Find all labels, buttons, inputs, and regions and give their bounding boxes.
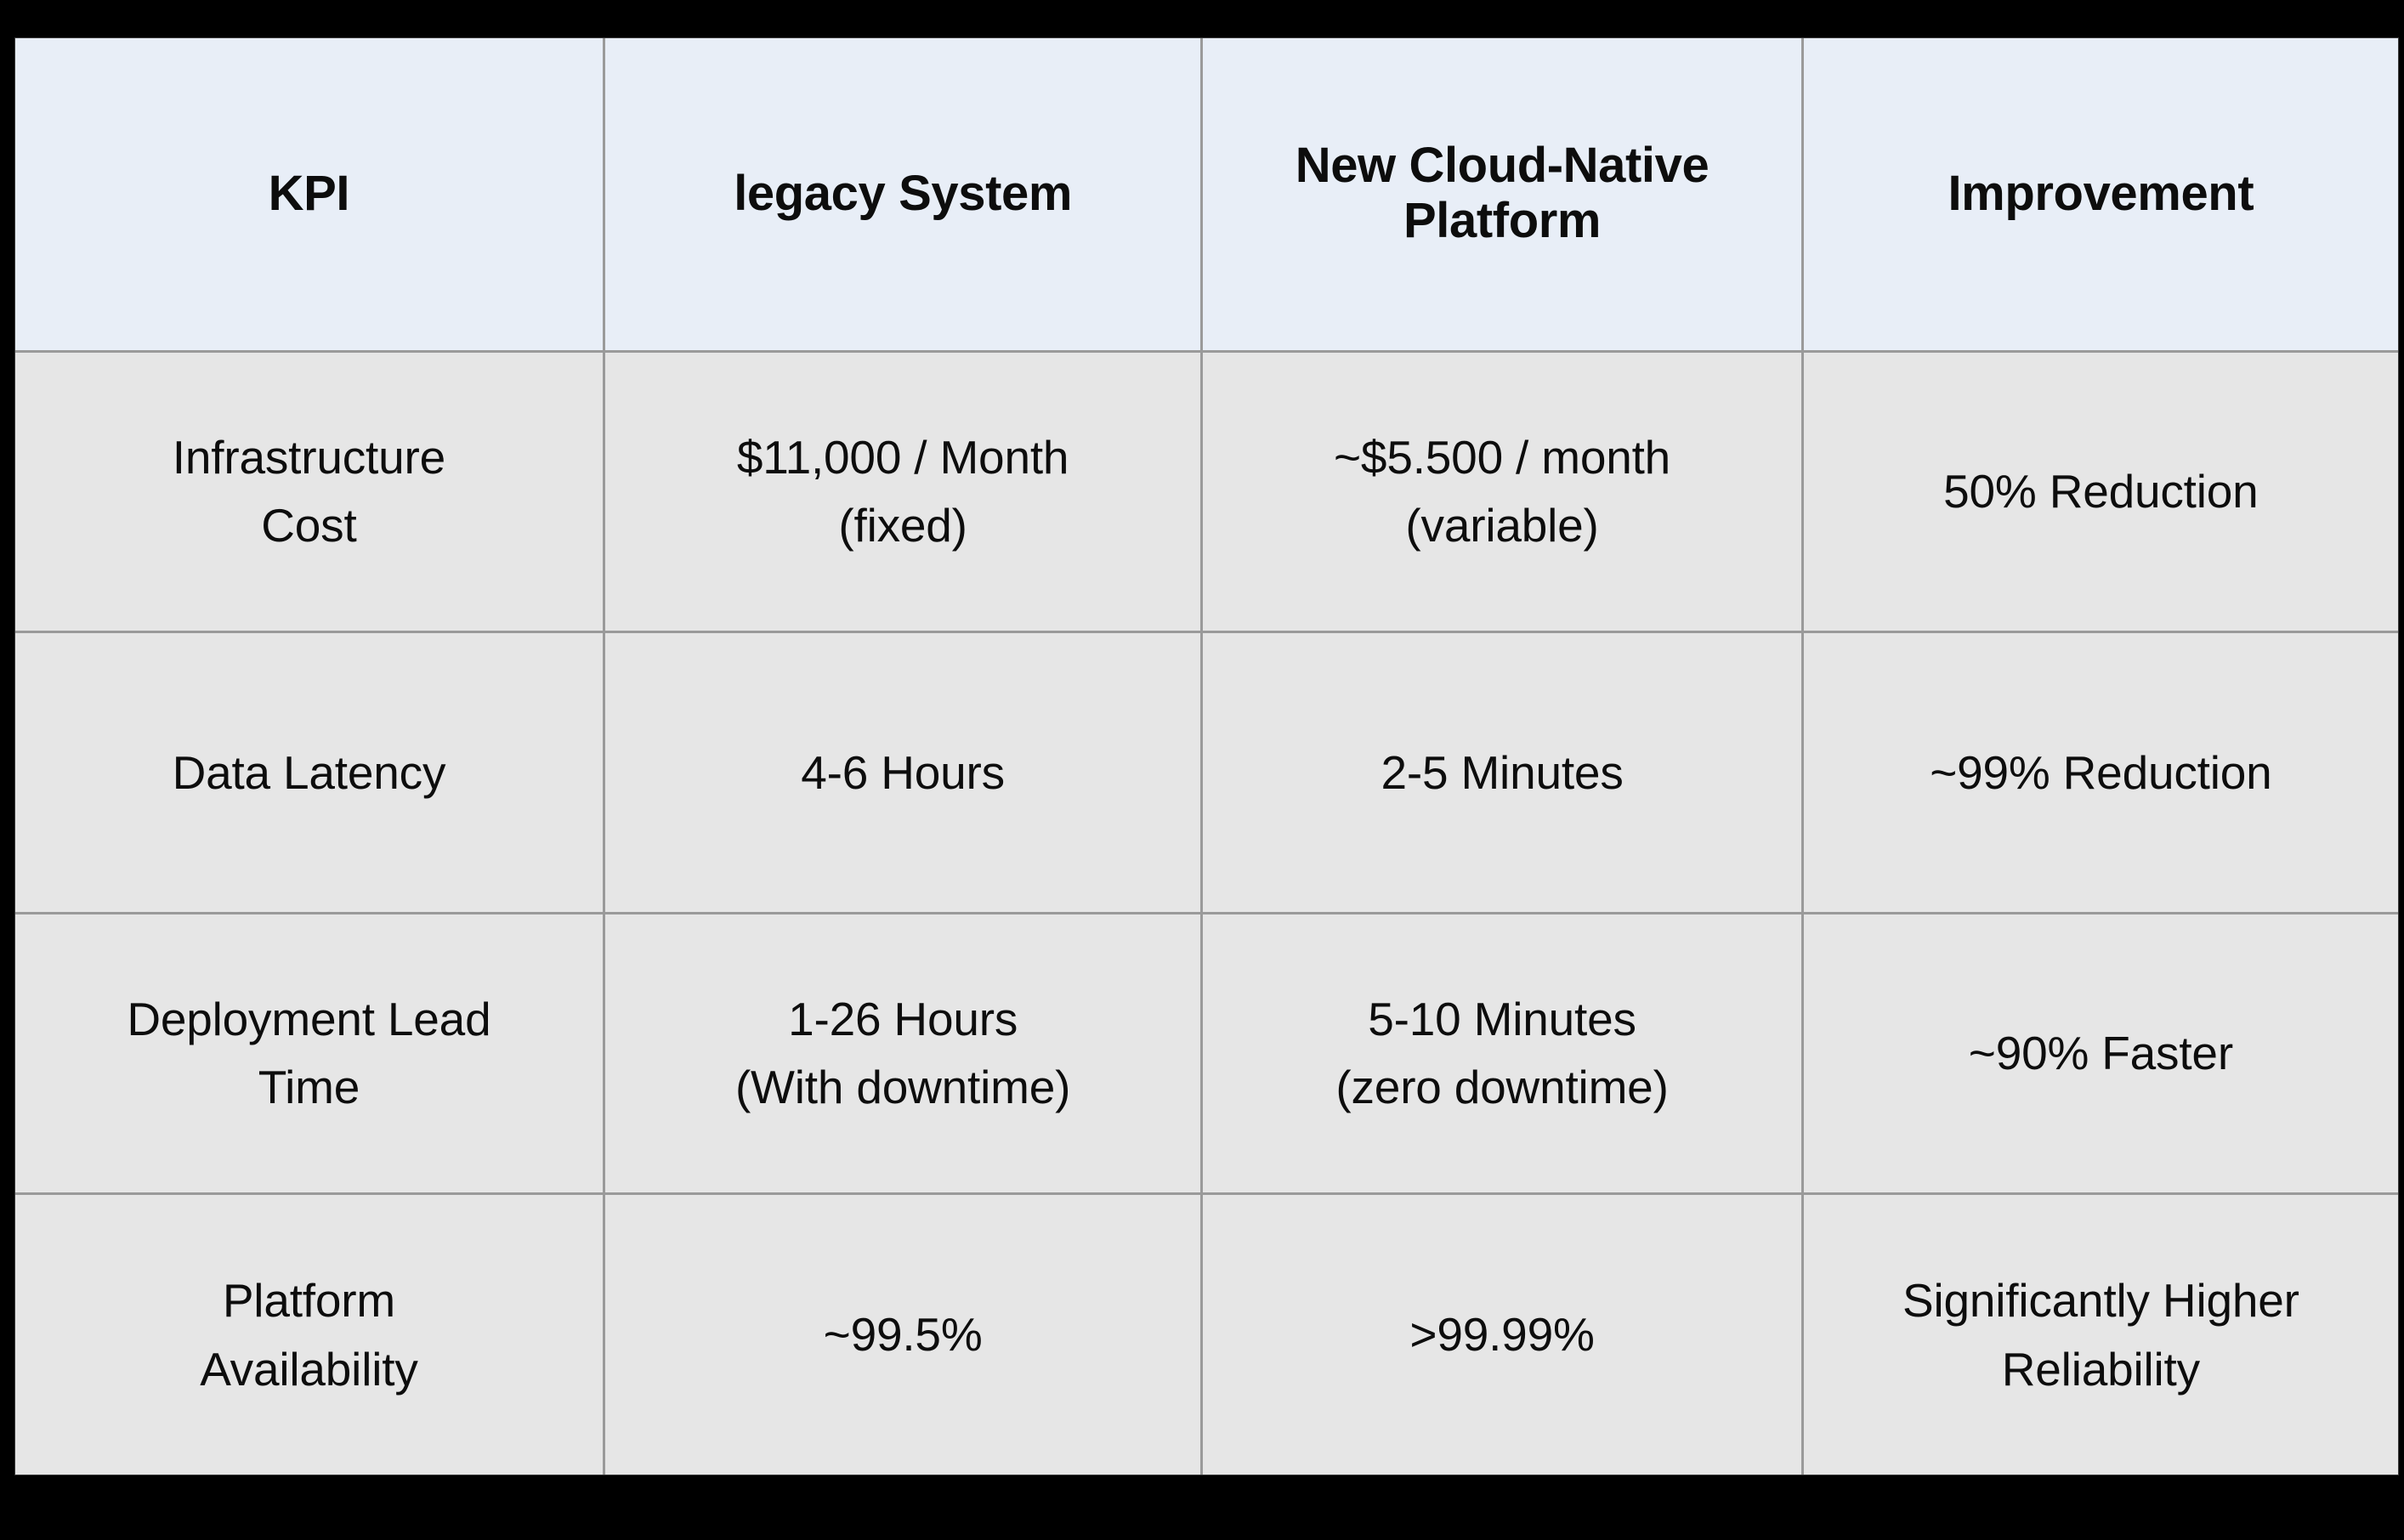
cell-new-cloud-native-platform: 5-10 Minutes (zero downtime) <box>1202 913 1802 1194</box>
cell-line: ~$5.500 / month <box>1220 424 1783 490</box>
cell-line: Availability <box>32 1336 586 1402</box>
cell-line: 2-5 Minutes <box>1220 739 1783 806</box>
column-header-new-cloud-native-platform: New Cloud-Native Platform <box>1202 38 1802 351</box>
cell-line: (variable) <box>1220 492 1783 558</box>
cell-improvement: Significantly Higher Reliability <box>1802 1194 2398 1475</box>
cell-line: Significantly Higher <box>1821 1267 2381 1333</box>
cell-improvement: ~90% Faster <box>1802 913 2398 1194</box>
cell-improvement: 50% Reduction <box>1802 351 2398 632</box>
cell-line: ~99.5% <box>622 1301 1184 1367</box>
cell-line: (fixed) <box>622 492 1184 558</box>
kpi-comparison-table-container: KPI legacy System New Cloud-Native Platf… <box>15 38 2398 1475</box>
cell-line: Time <box>32 1054 586 1120</box>
cell-line: Deployment Lead <box>32 986 586 1052</box>
cell-new-cloud-native-platform: >99.99% <box>1202 1194 1802 1475</box>
cell-line: >99.99% <box>1220 1301 1783 1367</box>
table-row: Deployment Lead Time 1-26 Hours (With do… <box>15 913 2398 1194</box>
cell-line: Platform <box>32 1267 586 1333</box>
cell-kpi: Platform Availability <box>15 1194 604 1475</box>
cell-line: (With downtime) <box>622 1054 1184 1120</box>
column-header-kpi: KPI <box>15 38 604 351</box>
cell-line: 1-26 Hours <box>622 986 1184 1052</box>
table-body: Infrastructure Cost $11,000 / Month (fix… <box>15 351 2398 1475</box>
cell-improvement: ~99% Reduction <box>1802 632 2398 914</box>
cell-kpi: Data Latency <box>15 632 604 914</box>
kpi-comparison-table: KPI legacy System New Cloud-Native Platf… <box>15 38 2398 1475</box>
cell-line: $11,000 / Month <box>622 424 1184 490</box>
cell-legacy-system: $11,000 / Month (fixed) <box>604 351 1202 632</box>
page-frame: KPI legacy System New Cloud-Native Platf… <box>0 0 2404 1540</box>
cell-line: Data Latency <box>32 739 586 806</box>
cell-new-cloud-native-platform: 2-5 Minutes <box>1202 632 1802 914</box>
cell-line: (zero downtime) <box>1220 1054 1783 1120</box>
cell-legacy-system: 4-6 Hours <box>604 632 1202 914</box>
cell-new-cloud-native-platform: ~$5.500 / month (variable) <box>1202 351 1802 632</box>
cell-line: 4-6 Hours <box>622 739 1184 806</box>
column-header-legacy-system: legacy System <box>604 38 1202 351</box>
table-row: Infrastructure Cost $11,000 / Month (fix… <box>15 351 2398 632</box>
cell-kpi: Infrastructure Cost <box>15 351 604 632</box>
cell-line: 5-10 Minutes <box>1220 986 1783 1052</box>
column-header-improvement: Improvement <box>1802 38 2398 351</box>
cell-line: Cost <box>32 492 586 558</box>
cell-kpi: Deployment Lead Time <box>15 913 604 1194</box>
cell-legacy-system: ~99.5% <box>604 1194 1202 1475</box>
cell-line: ~99% Reduction <box>1821 739 2381 806</box>
table-header-row: KPI legacy System New Cloud-Native Platf… <box>15 38 2398 351</box>
cell-line: ~90% Faster <box>1821 1020 2381 1086</box>
table-header: KPI legacy System New Cloud-Native Platf… <box>15 38 2398 351</box>
table-row: Platform Availability ~99.5% >99.99% Sig… <box>15 1194 2398 1475</box>
cell-line: Infrastructure <box>32 424 586 490</box>
cell-legacy-system: 1-26 Hours (With downtime) <box>604 913 1202 1194</box>
cell-line: Reliability <box>1821 1336 2381 1402</box>
cell-line: 50% Reduction <box>1821 458 2381 524</box>
table-row: Data Latency 4-6 Hours 2-5 Minutes ~99% … <box>15 632 2398 914</box>
